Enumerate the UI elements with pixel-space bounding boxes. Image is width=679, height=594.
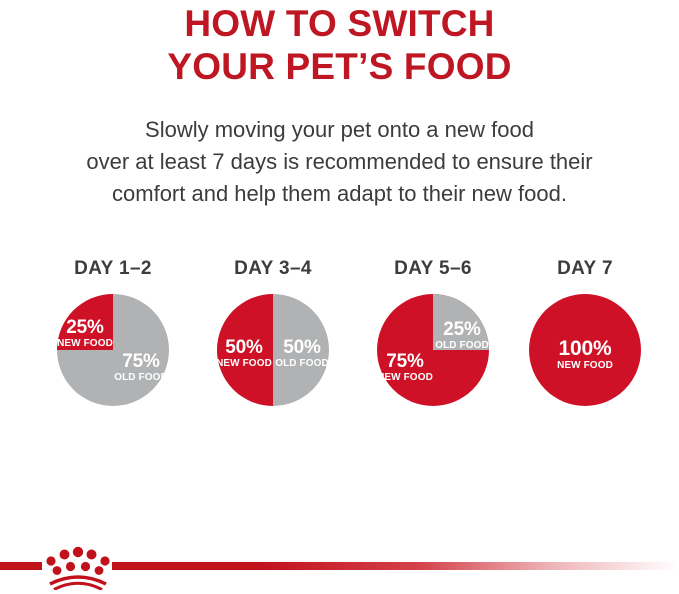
pie-slice-new-food — [529, 294, 641, 406]
pie-cell-day-5-6: DAY 5–6 25% OLD FOOD 75% NEW FOOD — [353, 258, 513, 448]
pie-chart-day-1-2: 25% NEW FOOD 75% OLD FOOD — [57, 294, 169, 406]
pie-cell-day-7: DAY 7 100% NEW FOOD — [505, 258, 665, 448]
pie-cell-day-3-4: DAY 3–4 50% NEW FOOD 50% OLD FOOD — [193, 258, 353, 448]
footer-rule-right — [112, 562, 679, 570]
intro-paragraph: Slowly moving your pet onto a new food o… — [0, 114, 679, 210]
day-label-4: DAY 7 — [505, 258, 665, 280]
page-title-line-1: HOW TO SWITCH — [0, 2, 679, 45]
pie-slice-new-food — [57, 294, 113, 350]
pie-chart-day-7: 100% NEW FOOD — [529, 294, 641, 406]
pie-slice-old-food — [433, 294, 489, 350]
royal-canin-crown-icon — [41, 544, 115, 590]
page-title-line-2: YOUR PET’S FOOD — [0, 45, 679, 88]
day-label-1: DAY 1–2 — [33, 258, 193, 280]
pie-slice-new-food — [217, 294, 273, 406]
footer-rule-left — [0, 562, 42, 570]
intro-line-1: Slowly moving your pet onto a new food — [0, 114, 679, 146]
intro-line-3: comfort and help them adapt to their new… — [0, 178, 679, 210]
page-title: HOW TO SWITCH YOUR PET’S FOOD — [0, 2, 679, 88]
pie-chart-day-5-6: 25% OLD FOOD 75% NEW FOOD — [377, 294, 489, 406]
intro-line-2: over at least 7 days is recommended to e… — [0, 146, 679, 178]
transition-schedule-chart-row: DAY 1–2 25% NEW FOOD 75% OLD FOOD DAY 3–… — [0, 258, 679, 448]
day-label-2: DAY 3–4 — [193, 258, 353, 280]
footer — [0, 540, 679, 594]
pie-chart-day-3-4: 50% NEW FOOD 50% OLD FOOD — [217, 294, 329, 406]
pie-cell-day-1-2: DAY 1–2 25% NEW FOOD 75% OLD FOOD — [33, 258, 193, 448]
day-label-3: DAY 5–6 — [353, 258, 513, 280]
